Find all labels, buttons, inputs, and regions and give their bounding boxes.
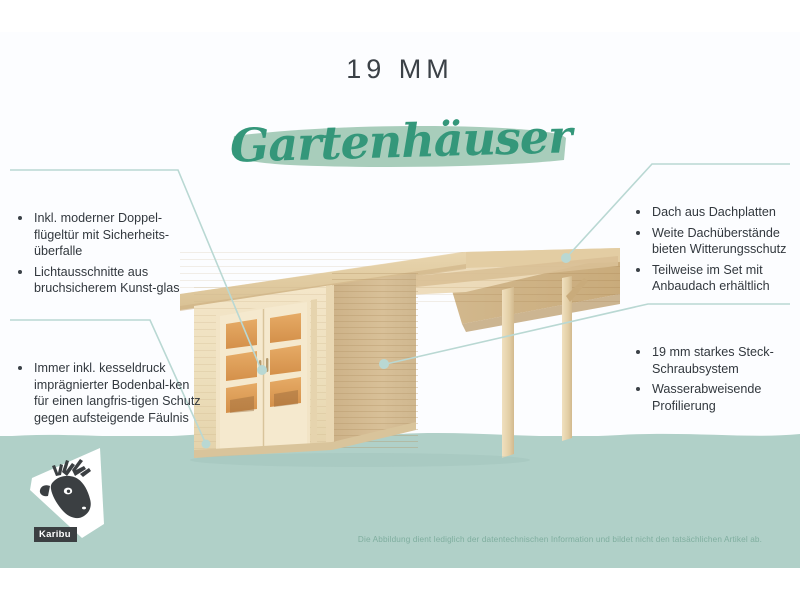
- callout-floor-beam-features: Immer inkl. kesseldruck imprägnierter Bo…: [12, 360, 202, 430]
- door-hinge-strip: [311, 299, 317, 448]
- content-plate: 19 MM Gartenhäuser Inkl. moderner Doppel…: [0, 32, 800, 568]
- garden-house-illustration: [180, 232, 620, 472]
- door-handle: [266, 358, 268, 372]
- deer-pupil: [67, 490, 70, 493]
- deer-nostril: [82, 507, 86, 510]
- callout-item: Wasserabweisende Profilierung: [630, 381, 800, 414]
- callout-item: Weite Dachüberstände bieten Witterungssc…: [630, 225, 800, 258]
- callout-roof-features: Dach aus Dachplatten Weite Dachüberständ…: [630, 204, 800, 299]
- callout-item: Dach aus Dachplatten: [630, 204, 800, 221]
- disclaimer-footnote: Die Abbildung dient lediglich der datent…: [330, 535, 790, 544]
- infographic-canvas: 19 MM Gartenhäuser Inkl. moderner Doppel…: [0, 0, 800, 600]
- door-pane: [226, 351, 257, 381]
- cabin-side-grain: [332, 273, 418, 448]
- page-headline: 19 MM: [0, 54, 800, 85]
- title-block: Gartenhäuser: [230, 110, 570, 180]
- callout-item: Teilweise im Set mit Anbaudach erhältlic…: [630, 262, 800, 295]
- canopy-post-front: [502, 287, 514, 458]
- callout-door-features: Inkl. moderner Doppel-flügeltür mit Sich…: [12, 210, 202, 301]
- callout-item: 19 mm starkes Steck-Schraubsystem: [630, 344, 800, 377]
- callout-item: Lichtausschnitte aus bruchsicherem Kunst…: [12, 264, 202, 297]
- callout-item: Immer inkl. kesseldruck imprägnierter Bo…: [12, 360, 202, 426]
- page-title: Gartenhäuser: [229, 109, 570, 172]
- logo-wordmark: Karibu: [34, 527, 77, 542]
- door-pane: [270, 345, 301, 375]
- ground-shadow: [190, 453, 530, 467]
- cabin-corner-trim: [326, 285, 334, 447]
- door-pane: [226, 319, 257, 349]
- callout-item: Inkl. moderner Doppel-flügeltür mit Sich…: [12, 210, 202, 260]
- callout-wall-system-features: 19 mm starkes Steck-Schraubsystem Wasser…: [630, 344, 800, 418]
- door-handle: [259, 360, 261, 374]
- door-pane: [270, 313, 301, 343]
